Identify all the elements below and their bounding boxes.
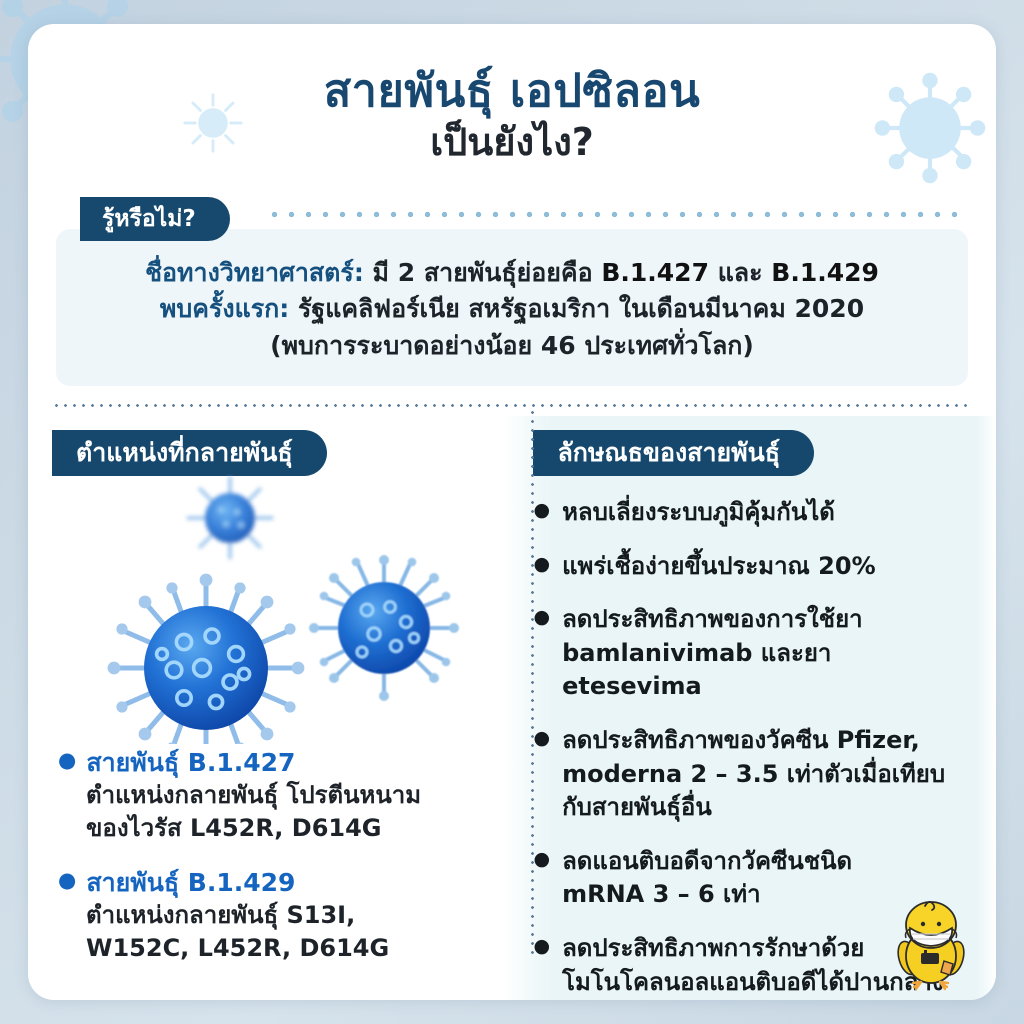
variant-title: ● สายพันธุ์ B.1.427 [58,746,485,779]
info-line-scientific-name: ชื่อทางวิทยาศาสตร์: มี 2 สายพันธุ์ย่อยคื… [82,255,942,292]
mutation-list: ● สายพันธุ์ B.1.427 ตำแหน่งกลายพันธุ์ โป… [58,746,485,987]
info-label-scientific-name: ชื่อทางวิทยาศาสตร์: [145,258,364,287]
variant-detail: ตำแหน่งกลายพันธุ์ โปรตีนหนาม ของไวรัส L4… [86,779,485,844]
characteristic-text: ลดประสิทธิภาพของวัคซีน Pfizer, moderna 2… [562,724,945,825]
title-line-1: สายพันธุ์ เอปซิลอน [28,64,996,117]
virus-illustration [88,474,488,744]
bullet-dot-icon: ● [533,845,550,874]
bullet-dot-icon: ● [58,866,76,895]
info-text-first-found: รัฐแคลิฟอร์เนีย สหรัฐอเมริกา ในเดือนมีนา… [289,294,864,323]
info-conjunction: และ [709,258,771,287]
variant-title: ● สายพันธุ์ B.1.429 [58,866,485,899]
list-item: ● สายพันธุ์ B.1.427 ตำแหน่งกลายพันธุ์ โป… [58,746,485,844]
variant-characteristics-heading: ลักษณธของสายพันธุ์ [533,430,813,476]
chick-mascot-with-mask-icon [888,896,974,992]
variant-detail: ตำแหน่งกลายพันธุ์ S13I, W152C, L452R, D6… [86,899,485,964]
info-box: ชื่อทางวิทยาศาสตร์: มี 2 สายพันธุ์ย่อยคื… [56,229,968,387]
characteristic-text: ลดประสิทธิภาพของการใช้ยา bamlanivimab แล… [562,603,976,704]
list-item: ● สายพันธุ์ B.1.429 ตำแหน่งกลายพันธุ์ S1… [58,866,485,964]
did-you-know-row: รู้หรือไม่? [28,197,996,241]
info-label-first-found: พบครั้งแรก: [160,294,289,323]
dotted-rule [266,211,968,218]
mutation-location-panel: ตำแหน่งที่กลายพันธุ์ [28,416,503,1000]
variant-code-2: B.1.429 [771,258,879,287]
bullet-dot-icon: ● [533,550,550,579]
variant-title-text: สายพันธุ์ B.1.427 [86,746,295,779]
did-you-know-badge: รู้หรือไม่? [80,197,230,241]
page-title: สายพันธุ์ เอปซิลอน เป็นยังไง? [28,24,996,167]
mutation-location-heading: ตำแหน่งที่กลายพันธุ์ [52,430,327,476]
horizontal-divider [52,404,972,407]
variant-title-text: สายพันธุ์ B.1.429 [86,866,295,899]
characteristic-text: ลดประสิทธิภาพการรักษาด้วย โมโนโคลนอลแอนต… [562,932,944,999]
list-item: ● ลดประสิทธิภาพของการใช้ยา bamlanivimab … [533,603,976,704]
content-panels: ตำแหน่งที่กลายพันธุ์ [28,416,996,1000]
info-text-subvariants: มี 2 สายพันธุ์ย่อยคือ [364,258,602,287]
characteristic-text: แพร่เชื้อง่ายขึ้นประมาณ 20% [562,550,876,584]
info-line-spread-note: (พบการระบาดอย่างน้อย 46 ประเทศทั่วโลก) [82,328,942,365]
bullet-dot-icon: ● [58,746,76,775]
title-line-2: เป็นยังไง? [28,119,996,167]
info-line-first-found: พบครั้งแรก: รัฐแคลิฟอร์เนีย สหรัฐอเมริกา… [82,291,942,328]
list-item: ● หลบเลี่ยงระบบภูมิคุ้มกันได้ [533,496,976,530]
bullet-dot-icon: ● [533,603,550,632]
bullet-dot-icon: ● [533,932,550,961]
bullet-dot-icon: ● [533,496,550,525]
vertical-divider [531,408,534,958]
list-item: ● แพร่เชื้อง่ายขึ้นประมาณ 20% [533,550,976,584]
variant-code-1: B.1.427 [601,258,709,287]
characteristic-text: ลดแอนติบอดีจากวัคซีนชนิด mRNA 3 – 6 เท่า [562,845,852,912]
list-item: ● ลดประสิทธิภาพของวัคซีน Pfizer, moderna… [533,724,976,825]
characteristic-text: หลบเลี่ยงระบบภูมิคุ้มกันได้ [562,496,835,530]
infographic-card: สายพันธุ์ เอปซิลอน เป็นยังไง? รู้หรือไม่… [28,24,996,1000]
bullet-dot-icon: ● [533,724,550,753]
